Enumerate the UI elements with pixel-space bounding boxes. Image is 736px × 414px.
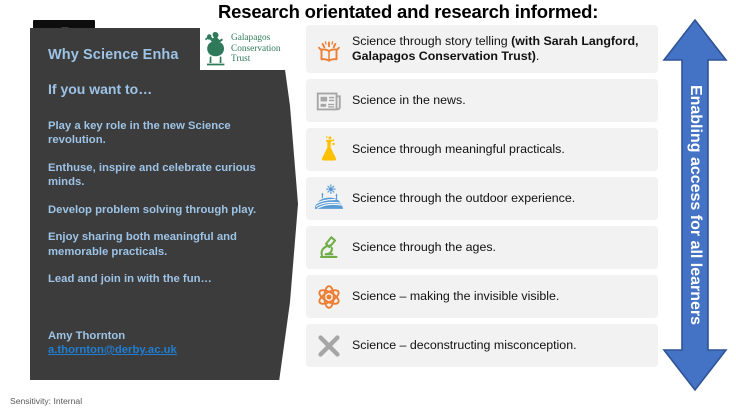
outdoor-landscape-icon bbox=[306, 177, 352, 220]
list-item[interactable]: Science in the news. bbox=[306, 79, 658, 122]
list-item-label: Science through the outdoor experience. bbox=[352, 191, 581, 206]
atom-icon bbox=[306, 275, 352, 318]
galapagos-conservation-trust-logo: Galapagos Conservation Trust bbox=[200, 28, 290, 70]
list-item[interactable]: Science – making the invisible visible. bbox=[306, 275, 658, 318]
author-email-link[interactable]: a.thornton@derby.ac.uk bbox=[48, 343, 274, 357]
list-item-label: Science – deconstructing misconception. bbox=[352, 338, 583, 353]
page-title: Research orientated and research informe… bbox=[218, 2, 678, 22]
author-name: Amy Thornton bbox=[48, 329, 274, 343]
tortoise-icon bbox=[202, 30, 230, 68]
newspaper-icon bbox=[306, 79, 352, 122]
slide-canvas: Research orientated and research informe… bbox=[0, 0, 736, 414]
list-item: Develop problem solving through play. bbox=[48, 203, 274, 217]
panel-bullet-list: Play a key role in the new Science revol… bbox=[48, 119, 274, 300]
list-item-label: Science through story telling (with Sara… bbox=[352, 34, 658, 64]
list-item-text: Science through the outdoor experience. bbox=[352, 191, 575, 205]
list-item-text: Science through meaningful practicals. bbox=[352, 142, 565, 156]
open-book-icon bbox=[306, 25, 352, 73]
list-item-label: Science – making the invisible visible. bbox=[352, 289, 565, 304]
list-item: Lead and join in with the fun… bbox=[48, 272, 274, 286]
list-item-text-tail: . bbox=[536, 49, 539, 63]
panel-subtitle: If you want to… bbox=[48, 81, 278, 97]
double-arrow-icon bbox=[662, 18, 728, 392]
flask-icon bbox=[306, 128, 352, 171]
list-item: Play a key role in the new Science revol… bbox=[48, 119, 274, 148]
logo-wordmark: Galapagos Conservation Trust bbox=[231, 33, 281, 65]
list-item[interactable]: Science through the ages. bbox=[306, 226, 658, 269]
list-item-text: Science – deconstructing misconception. bbox=[352, 338, 577, 352]
list-item-label: Science through meaningful practicals. bbox=[352, 142, 571, 157]
cross-x-icon bbox=[306, 324, 352, 367]
list-item-text: Science through the ages. bbox=[352, 240, 496, 254]
list-item-text: Science – making the invisible visible. bbox=[352, 289, 559, 303]
list-item[interactable]: Science – deconstructing misconception. bbox=[306, 324, 658, 367]
list-item-text: Science through story telling bbox=[352, 34, 511, 48]
enabling-access-arrow: Enabling access for all learners bbox=[662, 18, 728, 392]
list-item[interactable]: Science through the outdoor experience. bbox=[306, 177, 658, 220]
sensitivity-label: Sensitivity: Internal bbox=[10, 396, 82, 406]
list-item: Enthuse, inspire and celebrate curious m… bbox=[48, 161, 274, 190]
list-item-label: Science in the news. bbox=[352, 93, 472, 108]
list-item-label: Science through the ages. bbox=[352, 240, 502, 255]
list-item[interactable]: Science through story telling (with Sara… bbox=[306, 25, 658, 73]
microscope-icon bbox=[306, 226, 352, 269]
list-item-text: Science in the news. bbox=[352, 93, 466, 107]
logo-line-2: Conservation bbox=[231, 44, 281, 55]
logo-line-1: Galapagos bbox=[231, 33, 281, 44]
list-item: Enjoy sharing both meaningful and memora… bbox=[48, 230, 274, 259]
logo-line-3: Trust bbox=[231, 54, 281, 65]
research-activity-list: Science through story telling (with Sara… bbox=[306, 25, 658, 373]
list-item[interactable]: Science through meaningful practicals. bbox=[306, 128, 658, 171]
